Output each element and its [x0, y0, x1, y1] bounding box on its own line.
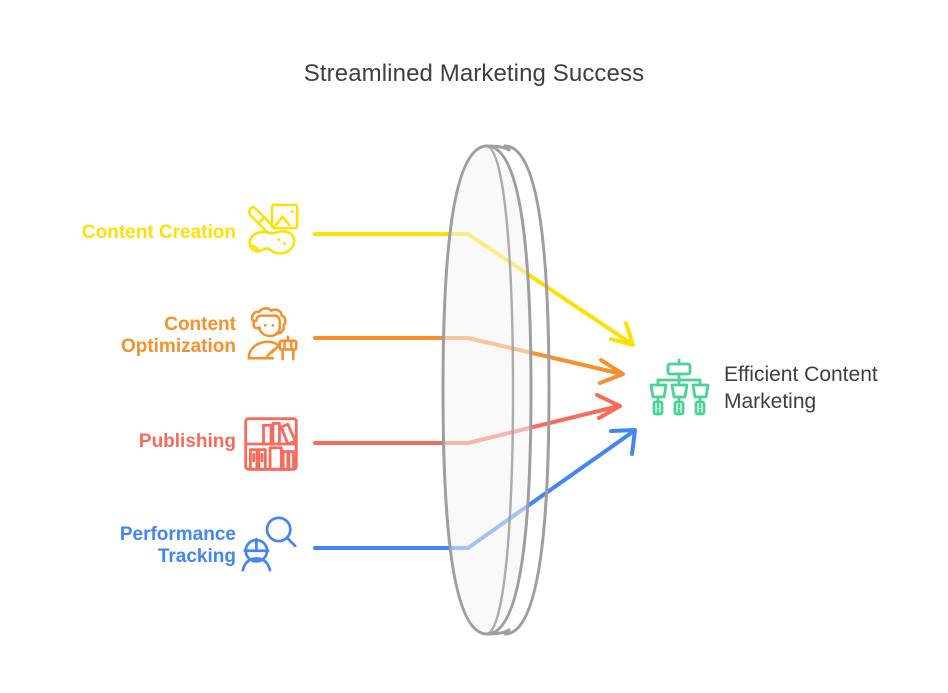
- person-easel-icon: [240, 304, 302, 366]
- arrowhead-publishing: [597, 395, 620, 418]
- diagram-canvas: Streamlined Marketing Success Content Cr…: [0, 0, 948, 693]
- connector-performance-tracking: [315, 431, 634, 548]
- target-person-magnifier-icon: [238, 512, 300, 574]
- input-label-performance-tracking[interactable]: Performance Tracking: [0, 524, 236, 569]
- connector-content-creation: [315, 234, 632, 344]
- input-label-publishing[interactable]: Publishing: [0, 431, 236, 453]
- bookshelf-icon: [241, 414, 303, 476]
- input-label-content-optimization[interactable]: Content Optimization: [0, 314, 236, 359]
- connector-content-optimization: [315, 338, 622, 374]
- input-label-content-creation[interactable]: Content Creation: [0, 222, 236, 244]
- output-label-efficient-content-marketing[interactable]: Efficient Content Marketing: [724, 362, 948, 416]
- org-hierarchy-icon: [647, 356, 711, 420]
- connector-publishing: [315, 406, 619, 443]
- paintbrush-palette-icon: [240, 200, 302, 262]
